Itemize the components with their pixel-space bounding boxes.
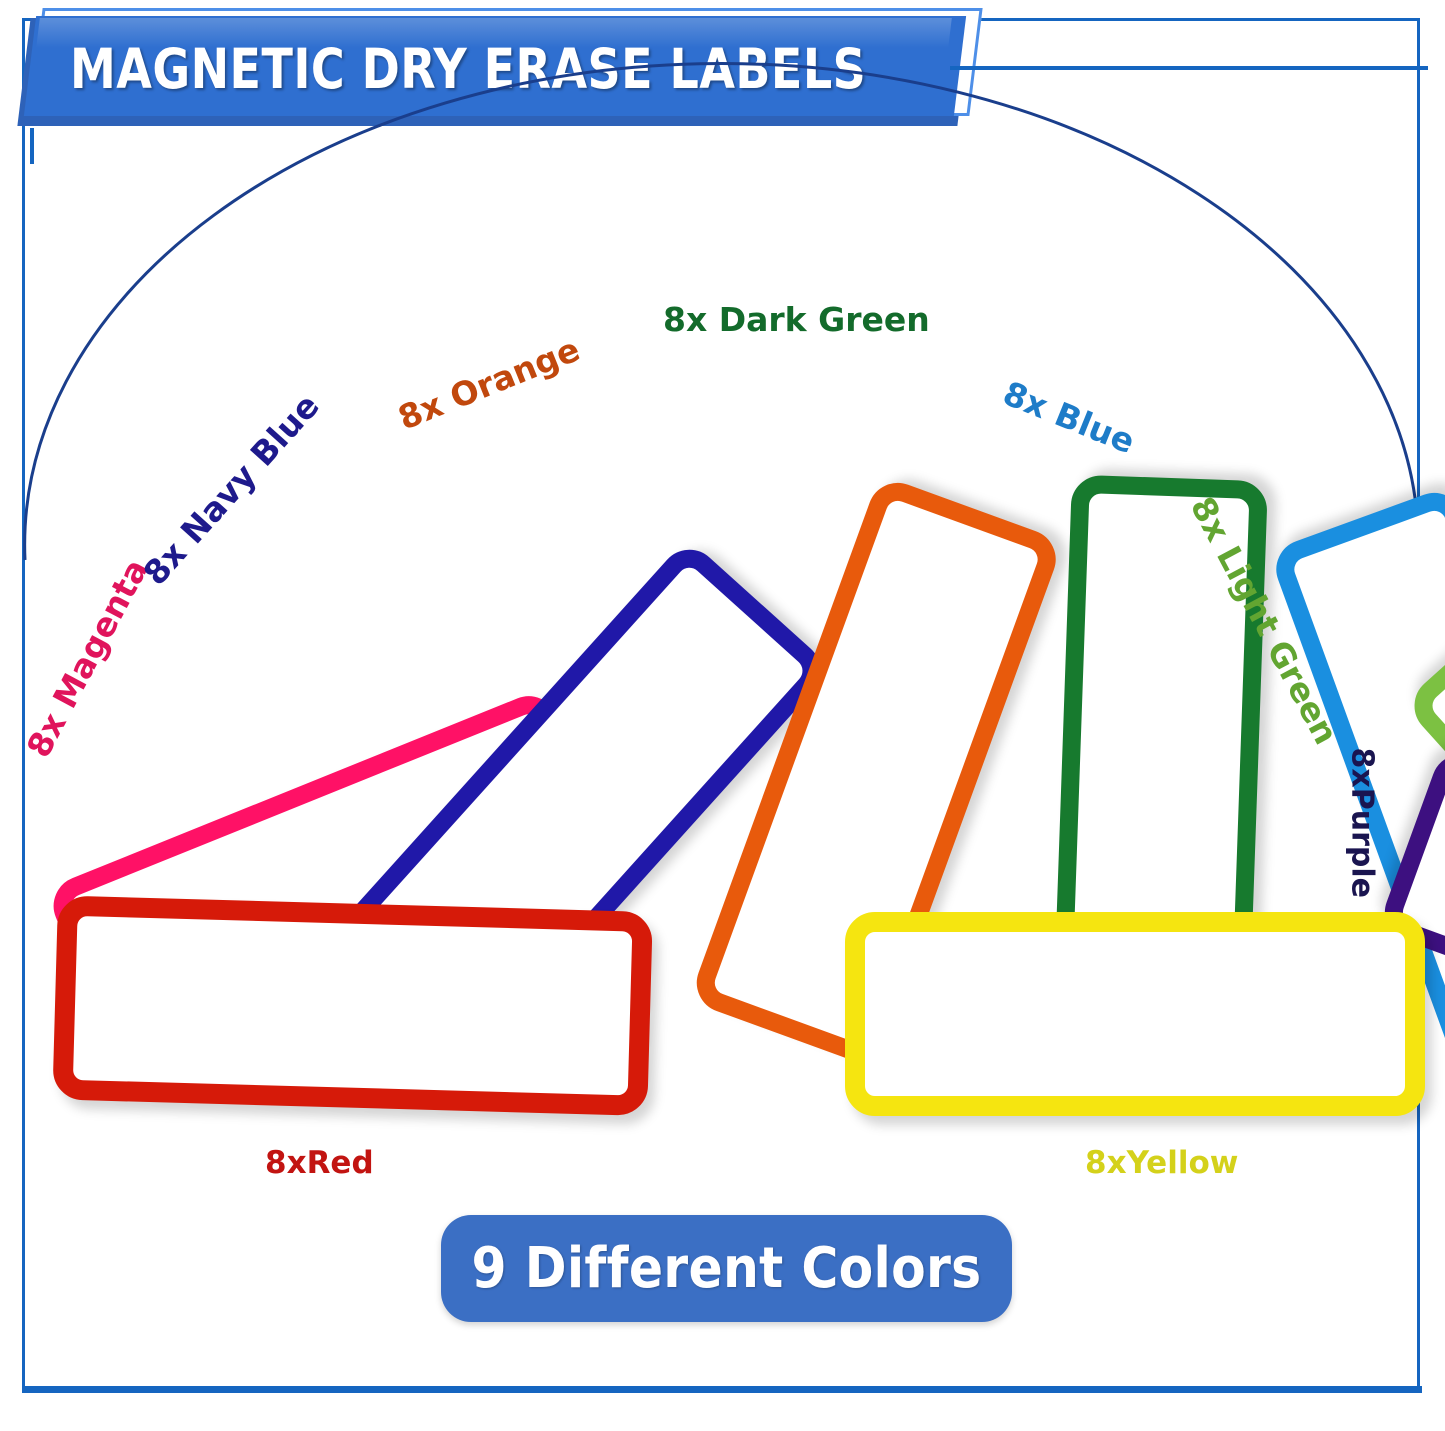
label-card-yellow [845,912,1425,1116]
color-count-badge: 9 Different Colors [441,1215,1012,1322]
label-caption-navy-blue: 8x Navy Blue [136,386,327,592]
label-caption-yellow: 8xYellow [1085,1145,1238,1181]
label-card-red [52,895,652,1116]
color-count-badge-label: 9 Different Colors [472,1236,982,1301]
label-caption-orange: 8x Orange [393,330,585,438]
label-caption-blue: 8x Blue [998,373,1141,461]
label-caption-purple: 8xPurple [1345,748,1380,898]
label-caption-dark-green: 8x Dark Green [663,300,930,339]
label-caption-magenta: 8x Magenta [19,553,156,764]
label-caption-red: 8xRed [265,1145,374,1181]
